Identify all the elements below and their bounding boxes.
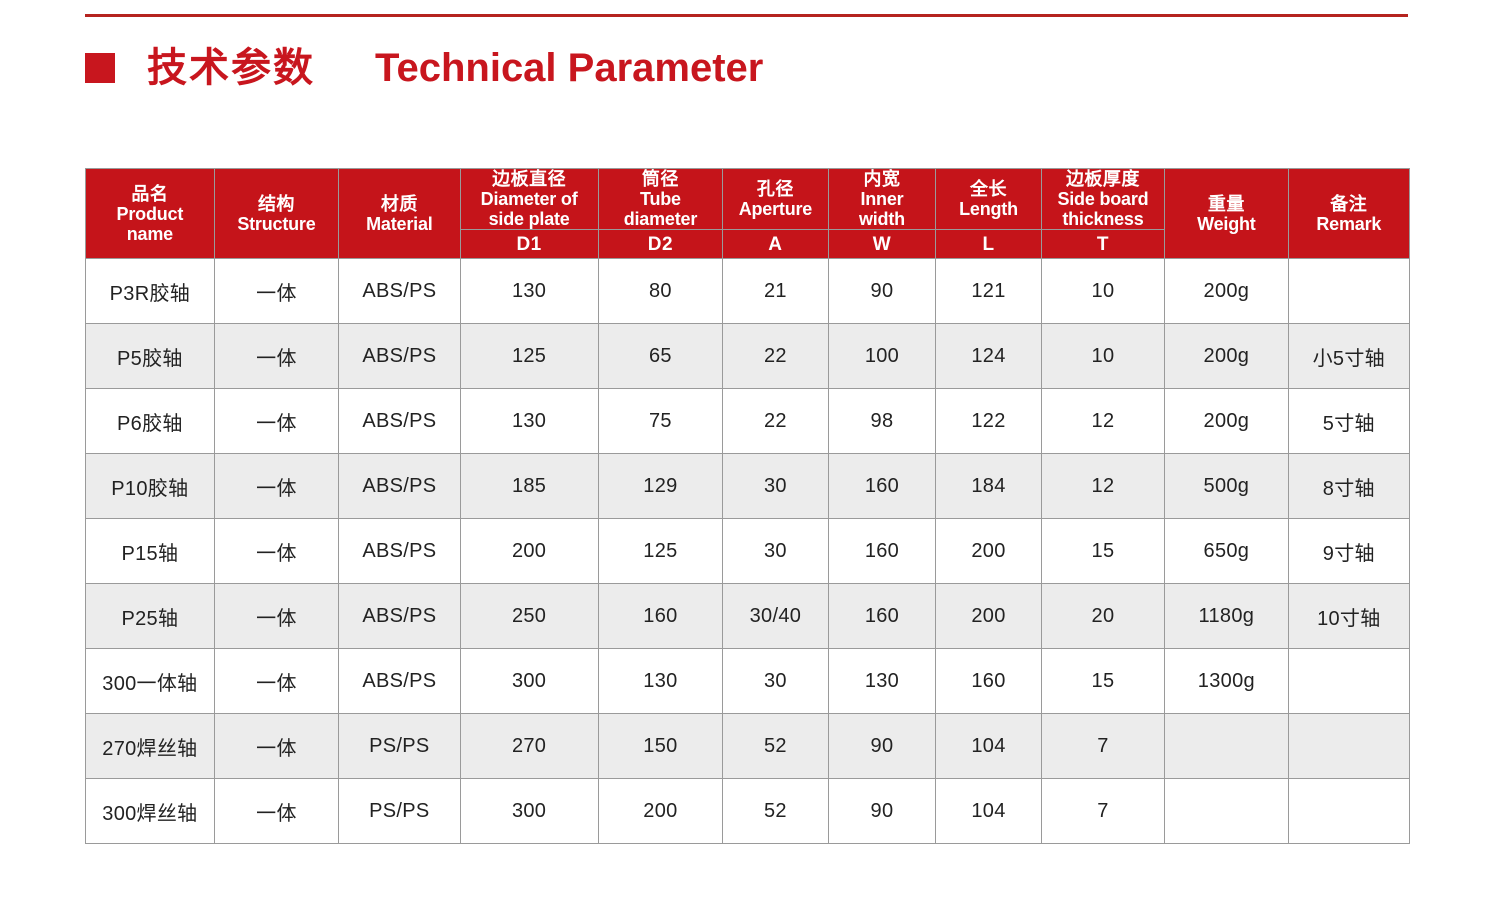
cell-d1: 130 xyxy=(460,389,598,454)
col-head-product-name-en-2: name xyxy=(86,224,214,244)
cell-weight: 200g xyxy=(1165,389,1288,454)
cell-structure: 一体 xyxy=(214,389,338,454)
cell-a: 30 xyxy=(723,649,828,714)
cell-d1: 130 xyxy=(460,259,598,324)
cell-l: 184 xyxy=(936,454,1041,519)
cell-weight xyxy=(1165,779,1288,844)
cell-d2: 160 xyxy=(598,584,722,649)
cell-w: 100 xyxy=(828,324,936,389)
cell-a: 22 xyxy=(723,324,828,389)
cell-t: 10 xyxy=(1041,259,1164,324)
cell-d1: 185 xyxy=(460,454,598,519)
col-head-remark: 备注 Remark xyxy=(1288,169,1409,259)
cell-material: ABS/PS xyxy=(339,259,460,324)
cell-w: 90 xyxy=(828,779,936,844)
cell-product-name: 300焊丝轴 xyxy=(86,779,215,844)
col-head-structure-cn: 结构 xyxy=(215,194,338,214)
table-body: P3R胶轴一体ABS/PS13080219012110200gP5胶轴一体ABS… xyxy=(86,259,1410,844)
cell-material: ABS/PS xyxy=(339,389,460,454)
col-head-structure: 结构 Structure xyxy=(214,169,338,259)
col-head-inner-width-en-2: width xyxy=(829,209,936,229)
cell-remark: 8寸轴 xyxy=(1288,454,1409,519)
cell-l: 104 xyxy=(936,714,1041,779)
cell-weight: 1300g xyxy=(1165,649,1288,714)
page-title-cn: 技术参数 xyxy=(147,48,315,88)
col-symbol-a: A xyxy=(723,230,828,259)
cell-remark: 5寸轴 xyxy=(1288,389,1409,454)
col-head-material: 材质 Material xyxy=(339,169,460,259)
col-head-sideboard-thickness: 边板厚度 Side board thickness xyxy=(1041,169,1164,230)
cell-remark xyxy=(1288,259,1409,324)
cell-product-name: P15轴 xyxy=(86,519,215,584)
col-head-length: 全长 Length xyxy=(936,169,1041,230)
col-head-material-en-1: Material xyxy=(339,214,459,234)
cell-t: 20 xyxy=(1041,584,1164,649)
cell-product-name: 300一体轴 xyxy=(86,649,215,714)
cell-remark: 小5寸轴 xyxy=(1288,324,1409,389)
cell-l: 121 xyxy=(936,259,1041,324)
col-head-product-name-en-1: Product xyxy=(86,204,214,224)
cell-d1: 300 xyxy=(460,649,598,714)
col-head-tube-diameter-cn: 筒径 xyxy=(599,169,722,189)
cell-material: ABS/PS xyxy=(339,649,460,714)
cell-a: 30 xyxy=(723,454,828,519)
technical-parameter-table: 品名 Product name 结构 Structure 材质 Material… xyxy=(85,168,1410,844)
cell-structure: 一体 xyxy=(214,714,338,779)
cell-d1: 200 xyxy=(460,519,598,584)
col-symbol-l: L xyxy=(936,230,1041,259)
cell-t: 10 xyxy=(1041,324,1164,389)
cell-product-name: P6胶轴 xyxy=(86,389,215,454)
cell-t: 7 xyxy=(1041,714,1164,779)
cell-w: 160 xyxy=(828,454,936,519)
cell-l: 104 xyxy=(936,779,1041,844)
col-head-product-name-cn: 品名 xyxy=(86,184,214,204)
table-row: P6胶轴一体ABS/PS13075229812212200g5寸轴 xyxy=(86,389,1410,454)
cell-remark: 9寸轴 xyxy=(1288,519,1409,584)
cell-remark xyxy=(1288,649,1409,714)
table-row: 300一体轴一体ABS/PS30013030130160151300g xyxy=(86,649,1410,714)
cell-remark: 10寸轴 xyxy=(1288,584,1409,649)
cell-weight: 500g xyxy=(1165,454,1288,519)
col-head-tube-diameter: 筒径 Tube diameter xyxy=(598,169,722,230)
col-head-side-plate-diameter-en-1: Diameter of xyxy=(461,189,598,209)
table-header: 品名 Product name 结构 Structure 材质 Material… xyxy=(86,169,1410,259)
cell-a: 30/40 xyxy=(723,584,828,649)
cell-product-name: 270焊丝轴 xyxy=(86,714,215,779)
cell-t: 15 xyxy=(1041,519,1164,584)
col-symbol-t: T xyxy=(1041,230,1164,259)
col-head-inner-width-en-1: Inner xyxy=(829,189,936,209)
col-head-tube-diameter-en-1: Tube xyxy=(599,189,722,209)
cell-material: ABS/PS xyxy=(339,454,460,519)
cell-d2: 200 xyxy=(598,779,722,844)
cell-weight: 200g xyxy=(1165,324,1288,389)
cell-d1: 125 xyxy=(460,324,598,389)
cell-material: ABS/PS xyxy=(339,584,460,649)
cell-a: 22 xyxy=(723,389,828,454)
col-head-sideboard-thickness-en-2: thickness xyxy=(1042,209,1164,229)
table-row: 270焊丝轴一体PS/PS27015052901047 xyxy=(86,714,1410,779)
cell-material: ABS/PS xyxy=(339,519,460,584)
table-row: P10胶轴一体ABS/PS1851293016018412500g8寸轴 xyxy=(86,454,1410,519)
cell-d2: 75 xyxy=(598,389,722,454)
cell-remark xyxy=(1288,779,1409,844)
cell-product-name: P5胶轴 xyxy=(86,324,215,389)
cell-material: ABS/PS xyxy=(339,324,460,389)
col-head-aperture: 孔径 Aperture xyxy=(723,169,828,230)
cell-a: 21 xyxy=(723,259,828,324)
cell-a: 52 xyxy=(723,714,828,779)
cell-d2: 65 xyxy=(598,324,722,389)
cell-remark xyxy=(1288,714,1409,779)
col-head-side-plate-diameter-cn: 边板直径 xyxy=(461,169,598,189)
square-bullet-icon xyxy=(85,53,115,83)
cell-l: 124 xyxy=(936,324,1041,389)
cell-weight: 200g xyxy=(1165,259,1288,324)
cell-l: 122 xyxy=(936,389,1041,454)
table-row: 300焊丝轴一体PS/PS30020052901047 xyxy=(86,779,1410,844)
cell-t: 7 xyxy=(1041,779,1164,844)
cell-d2: 80 xyxy=(598,259,722,324)
technical-parameter-table-container: 品名 Product name 结构 Structure 材质 Material… xyxy=(85,168,1410,844)
cell-weight: 1180g xyxy=(1165,584,1288,649)
table-row: P15轴一体ABS/PS2001253016020015650g9寸轴 xyxy=(86,519,1410,584)
col-head-tube-diameter-en-2: diameter xyxy=(599,209,722,229)
col-head-sideboard-thickness-cn: 边板厚度 xyxy=(1042,169,1164,189)
cell-a: 52 xyxy=(723,779,828,844)
col-head-inner-width-cn: 内宽 xyxy=(829,169,936,189)
cell-w: 130 xyxy=(828,649,936,714)
cell-w: 98 xyxy=(828,389,936,454)
cell-t: 12 xyxy=(1041,389,1164,454)
cell-d1: 270 xyxy=(460,714,598,779)
col-head-structure-en-1: Structure xyxy=(215,214,338,234)
cell-t: 12 xyxy=(1041,454,1164,519)
cell-l: 160 xyxy=(936,649,1041,714)
col-head-aperture-cn: 孔径 xyxy=(723,179,827,199)
col-symbol-d1: D1 xyxy=(460,230,598,259)
cell-d2: 150 xyxy=(598,714,722,779)
cell-l: 200 xyxy=(936,519,1041,584)
cell-structure: 一体 xyxy=(214,584,338,649)
cell-product-name: P10胶轴 xyxy=(86,454,215,519)
cell-structure: 一体 xyxy=(214,454,338,519)
cell-d1: 250 xyxy=(460,584,598,649)
col-head-weight: 重量 Weight xyxy=(1165,169,1288,259)
col-head-length-cn: 全长 xyxy=(936,179,1040,199)
cell-w: 90 xyxy=(828,714,936,779)
cell-d1: 300 xyxy=(460,779,598,844)
col-head-sideboard-thickness-en-1: Side board xyxy=(1042,189,1164,209)
col-head-weight-cn: 重量 xyxy=(1165,194,1287,214)
cell-structure: 一体 xyxy=(214,519,338,584)
cell-w: 160 xyxy=(828,584,936,649)
col-head-side-plate-diameter: 边板直径 Diameter of side plate xyxy=(460,169,598,230)
table-row: P25轴一体ABS/PS25016030/40160200201180g10寸轴 xyxy=(86,584,1410,649)
cell-weight: 650g xyxy=(1165,519,1288,584)
cell-structure: 一体 xyxy=(214,649,338,714)
col-head-remark-cn: 备注 xyxy=(1289,194,1409,214)
col-head-side-plate-diameter-en-2: side plate xyxy=(461,209,598,229)
col-head-inner-width: 内宽 Inner width xyxy=(828,169,936,230)
cell-structure: 一体 xyxy=(214,324,338,389)
cell-structure: 一体 xyxy=(214,259,338,324)
col-head-material-cn: 材质 xyxy=(339,194,459,214)
table-row: P5胶轴一体ABS/PS125652210012410200g小5寸轴 xyxy=(86,324,1410,389)
table-header-row-main: 品名 Product name 结构 Structure 材质 Material… xyxy=(86,169,1410,230)
col-head-product-name: 品名 Product name xyxy=(86,169,215,259)
cell-structure: 一体 xyxy=(214,779,338,844)
col-head-length-en-1: Length xyxy=(936,199,1040,219)
cell-product-name: P3R胶轴 xyxy=(86,259,215,324)
section-heading: 技术参数 Technical Parameter xyxy=(85,40,763,96)
cell-product-name: P25轴 xyxy=(86,584,215,649)
col-symbol-w: W xyxy=(828,230,936,259)
cell-d2: 125 xyxy=(598,519,722,584)
cell-d2: 129 xyxy=(598,454,722,519)
table-row: P3R胶轴一体ABS/PS13080219012110200g xyxy=(86,259,1410,324)
col-head-aperture-en-1: Aperture xyxy=(723,199,827,219)
page-title-en: Technical Parameter xyxy=(375,48,763,88)
cell-weight xyxy=(1165,714,1288,779)
cell-l: 200 xyxy=(936,584,1041,649)
cell-d2: 130 xyxy=(598,649,722,714)
col-head-remark-en-1: Remark xyxy=(1289,214,1409,234)
cell-t: 15 xyxy=(1041,649,1164,714)
cell-material: PS/PS xyxy=(339,714,460,779)
cell-w: 160 xyxy=(828,519,936,584)
cell-w: 90 xyxy=(828,259,936,324)
top-divider-rule xyxy=(85,14,1408,17)
col-symbol-d2: D2 xyxy=(598,230,722,259)
col-head-weight-en-1: Weight xyxy=(1165,214,1287,234)
cell-material: PS/PS xyxy=(339,779,460,844)
cell-a: 30 xyxy=(723,519,828,584)
